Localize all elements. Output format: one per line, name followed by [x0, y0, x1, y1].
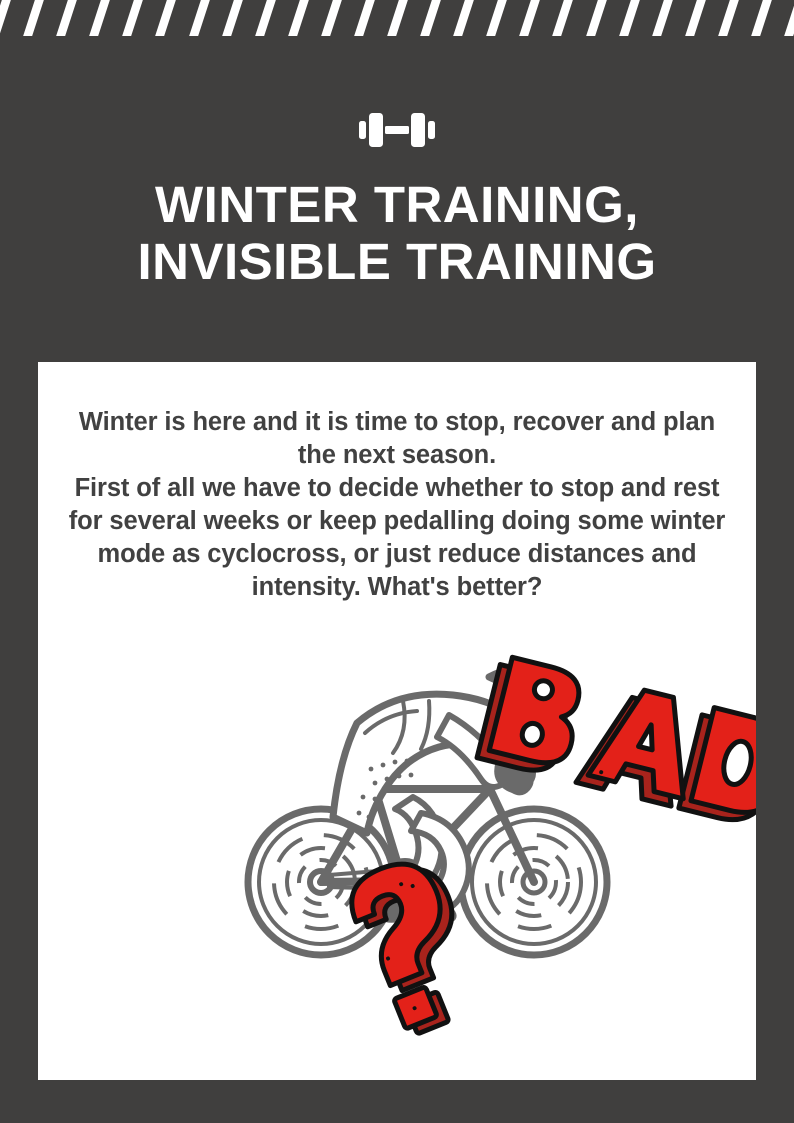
- stripe: [285, 0, 311, 36]
- stripe: [385, 0, 411, 36]
- stripe: [649, 0, 675, 36]
- stripe: [0, 0, 13, 36]
- stripe: [748, 0, 774, 36]
- stripe: [87, 0, 113, 36]
- stripe: [21, 0, 47, 36]
- stripe: [54, 0, 80, 36]
- stripe: [517, 0, 543, 36]
- stripe: [616, 0, 642, 36]
- stripe: [153, 0, 179, 36]
- stripe: [550, 0, 576, 36]
- stripe: [715, 0, 741, 36]
- illustration-group: [38, 632, 756, 1080]
- stripe: [351, 0, 377, 36]
- dumbbell-icon: [359, 111, 435, 149]
- stripe: [484, 0, 510, 36]
- stripe: [583, 0, 609, 36]
- stripe: [252, 0, 278, 36]
- stripe: [418, 0, 444, 36]
- bad-graphic: [477, 655, 756, 831]
- stripe: [186, 0, 212, 36]
- page-title: WINTER TRAINING, INVISIBLE TRAINING: [0, 176, 794, 290]
- stripe: [451, 0, 477, 36]
- stripe: [120, 0, 146, 36]
- stripe: [682, 0, 708, 36]
- poster-header: WINTER TRAINING, INVISIBLE TRAINING: [0, 36, 794, 362]
- stripe: [318, 0, 344, 36]
- stripe: [782, 0, 794, 36]
- stripe: [219, 0, 245, 36]
- content-card: Winter is here and it is time to stop, r…: [38, 362, 756, 1080]
- body-paragraph: Winter is here and it is time to stop, r…: [66, 406, 728, 604]
- diagonal-stripe-band: [0, 0, 794, 36]
